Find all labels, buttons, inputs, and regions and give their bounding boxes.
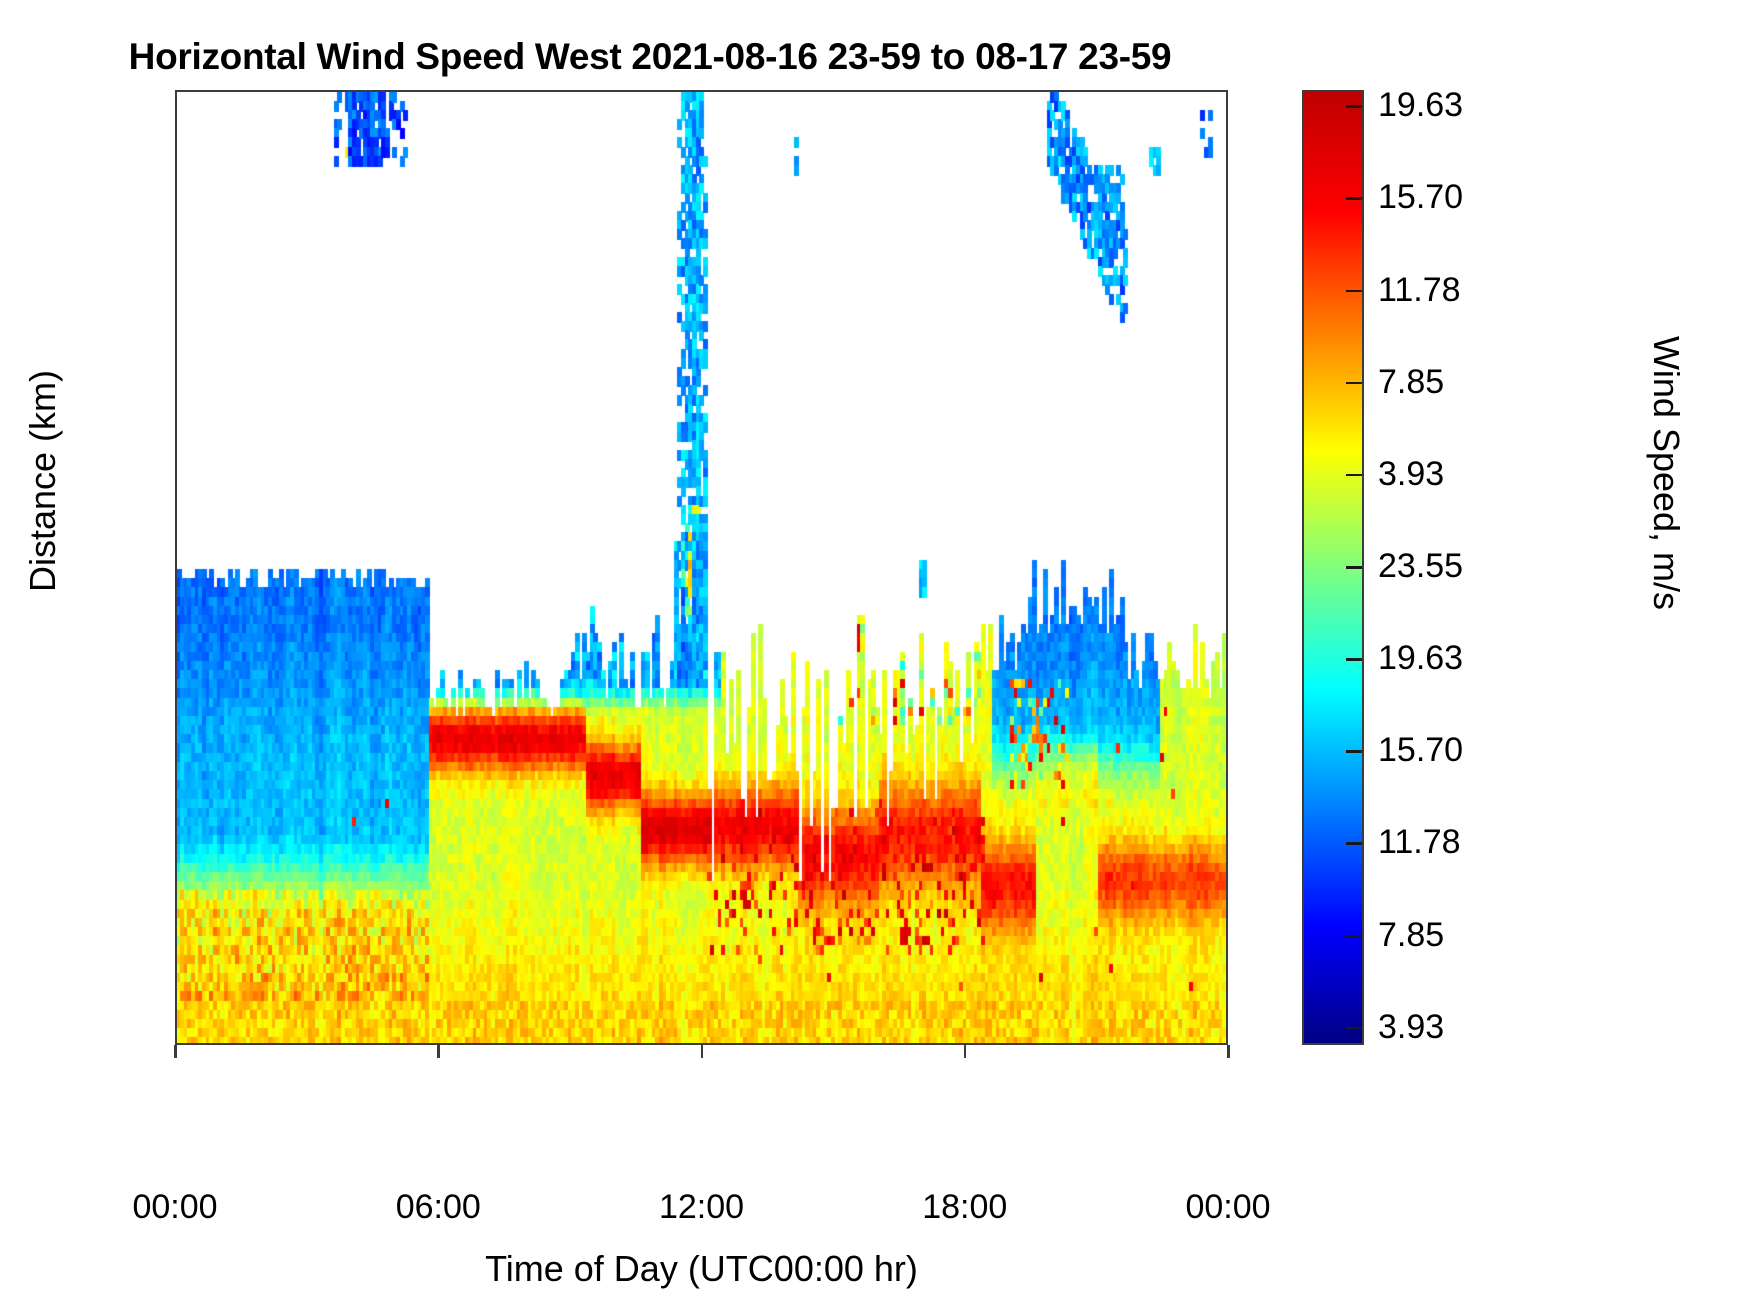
colorbar-tick-mark	[1346, 750, 1362, 753]
colorbar-title: Wind Speed, m/s	[1645, 193, 1687, 753]
x-axis-tick-label: 18:00	[855, 1190, 1075, 1224]
heatmap-plot-area	[175, 90, 1228, 1045]
colorbar-tick-mark	[1346, 1027, 1362, 1030]
colorbar-tick-label: 3.93	[1378, 457, 1444, 491]
colorbar-tick-label: 19.63	[1378, 641, 1463, 675]
colorbar-tick-label: 7.85	[1378, 918, 1444, 952]
colorbar-tick-label: 7.85	[1378, 365, 1444, 399]
x-axis-tick-mark	[1227, 1045, 1230, 1058]
colorbar-tick-label: 11.78	[1378, 825, 1461, 859]
colorbar-tick-label: 15.70	[1378, 180, 1463, 214]
colorbar-tick-mark	[1346, 105, 1362, 108]
colorbar-tick-mark	[1346, 658, 1362, 661]
colorbar-tick-label: 11.78	[1378, 273, 1461, 307]
y-axis-title: Distance (km)	[22, 201, 64, 761]
x-axis-tick-mark	[174, 1045, 177, 1058]
colorbar-tick-label: 15.70	[1378, 733, 1463, 767]
x-axis-tick-mark	[964, 1045, 967, 1058]
colorbar-tick-mark	[1346, 290, 1362, 293]
x-axis-tick-label: 00:00	[1118, 1190, 1338, 1224]
heatmap-canvas	[177, 92, 1228, 1045]
x-axis-tick-mark	[437, 1045, 440, 1058]
colorbar-tick-label: 19.63	[1378, 88, 1463, 122]
colorbar-tick-mark	[1346, 842, 1362, 845]
colorbar-tick-mark	[1346, 474, 1362, 477]
colorbar-tick-mark	[1346, 382, 1362, 385]
colorbar-tick-mark	[1346, 197, 1362, 200]
colorbar-tick-mark	[1346, 566, 1362, 569]
colorbar-tick-label: 3.93	[1378, 1010, 1444, 1044]
colorbar-tick-mark	[1346, 935, 1362, 938]
x-axis-title: Time of Day (UTC00:00 hr)	[175, 1248, 1228, 1290]
x-axis-tick-label: 00:00	[65, 1190, 285, 1224]
x-axis-tick-label: 06:00	[328, 1190, 548, 1224]
chart-title: Horizontal Wind Speed West 2021-08-16 23…	[0, 36, 1300, 78]
x-axis-tick-mark	[701, 1045, 704, 1058]
colorbar-tick-label: 23.55	[1378, 549, 1463, 583]
x-axis-tick-label: 12:00	[592, 1190, 812, 1224]
